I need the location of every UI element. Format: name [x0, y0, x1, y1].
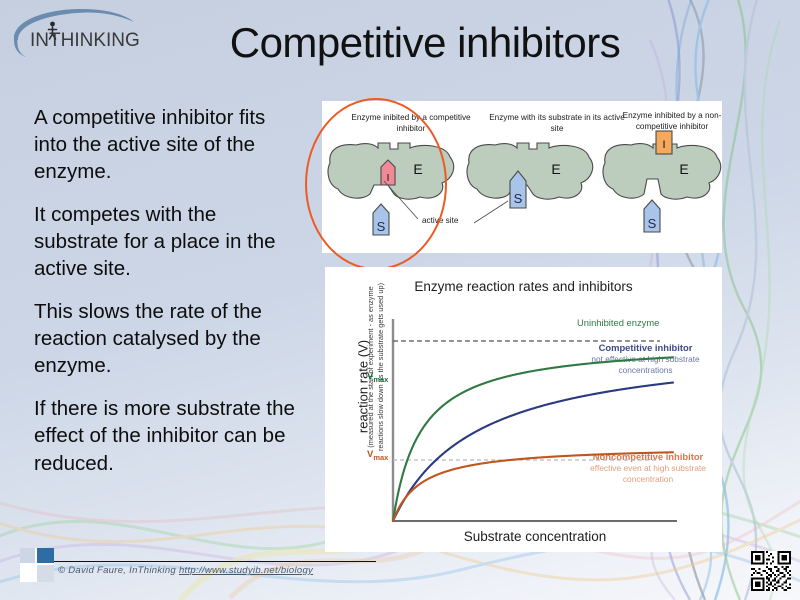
enzyme-panel-3: I E S — [603, 131, 721, 232]
svg-text:S: S — [648, 216, 657, 231]
footer-logo-squares — [20, 548, 54, 582]
body-paragraph-2: It competes with the substrate for a pla… — [34, 201, 296, 282]
qr-code[interactable] — [751, 551, 791, 591]
svg-text:S: S — [377, 219, 386, 234]
enzyme-panel-2: S E — [467, 143, 593, 223]
chart-plot-area — [325, 267, 722, 552]
inthinking-logo: INTHINKING — [8, 6, 143, 62]
body-text-block: A competitive inhibitor fits into the ac… — [34, 104, 296, 493]
enzyme-diagram-graphic: I E S active site S E I E S — [322, 101, 722, 253]
chart-series-1 — [393, 357, 673, 521]
enzyme-panel-1: I E S active site — [328, 143, 459, 235]
svg-text:I: I — [387, 173, 390, 184]
svg-text:E: E — [551, 161, 560, 177]
enzyme-kinetics-chart: Enzyme reaction rates and inhibitors rea… — [325, 267, 722, 552]
svg-text:I: I — [662, 139, 665, 151]
body-paragraph-4: If there is more substrate the effect of… — [34, 395, 296, 476]
svg-text:E: E — [413, 161, 422, 177]
footer-rule — [46, 561, 376, 563]
svg-text:S: S — [514, 191, 523, 206]
chart-series-2 — [393, 383, 673, 521]
chart-series-3 — [393, 452, 673, 521]
footer-copyright: © David Faure, InThinking — [58, 565, 176, 576]
body-paragraph-3: This slows the rate of the reaction cata… — [34, 298, 296, 379]
page-title: Competitive inhibitors — [190, 22, 660, 64]
inthinking-logo-text: INTHINKING — [30, 30, 140, 51]
body-paragraph-1: A competitive inhibitor fits into the ac… — [34, 104, 296, 185]
svg-text:active site: active site — [422, 216, 459, 225]
enzyme-diagram-panel: Enzyme inibited by a competitive inhibit… — [322, 101, 722, 253]
footer-credit: © David Faure, InThinking http://www.stu… — [58, 565, 313, 576]
svg-text:E: E — [679, 161, 688, 177]
footer-url[interactable]: http://www.studyib.net/biology — [179, 565, 313, 576]
